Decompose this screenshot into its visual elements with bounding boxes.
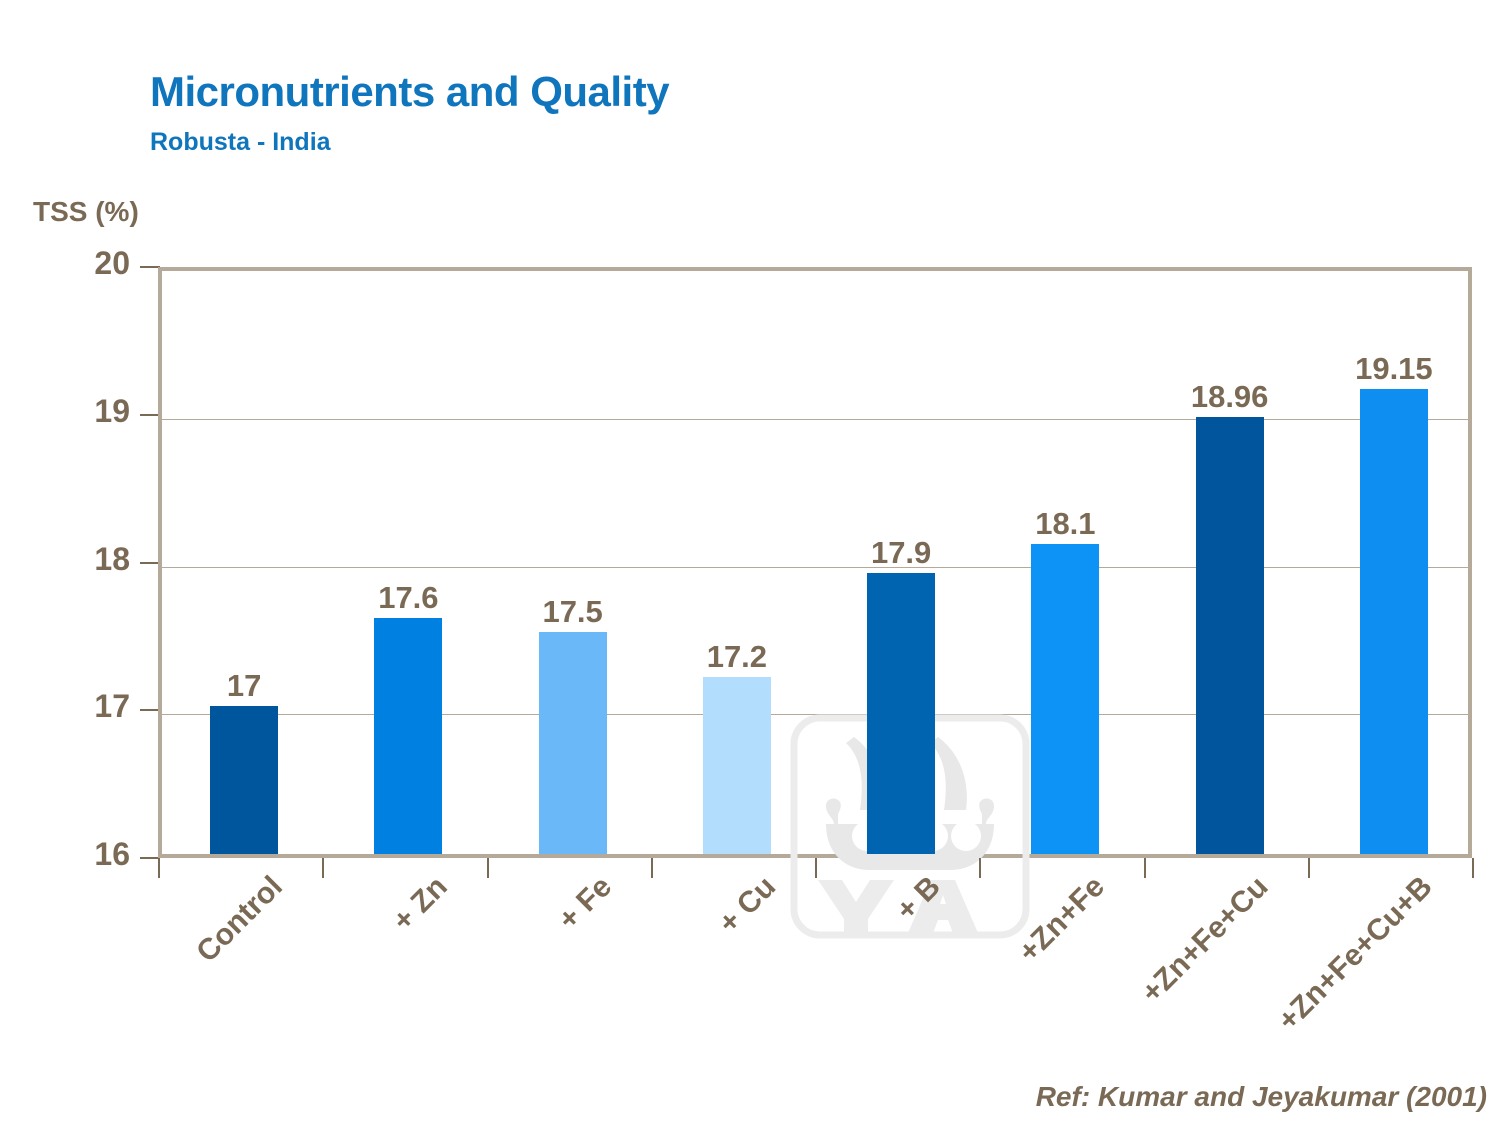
y-axis-title: TSS (%): [33, 196, 139, 228]
bar-slot: 17.2: [655, 271, 819, 854]
x-axis-category-label: + Cu: [712, 870, 783, 941]
x-axis-category-label: +Zn+Fe: [1012, 870, 1111, 969]
y-axis-tick: [140, 709, 160, 711]
bar-value-label: 18.1: [1035, 506, 1095, 542]
x-axis-tick: [815, 858, 817, 878]
y-axis-tick: [140, 562, 160, 564]
bar-slot: 17.6: [326, 271, 490, 854]
y-axis-tick: [140, 857, 160, 859]
bar-slot: 17.9: [819, 271, 983, 854]
bar[interactable]: [539, 632, 607, 854]
bar[interactable]: [1360, 389, 1428, 854]
x-axis-category-label: +Zn+Fe+Cu+B: [1272, 870, 1440, 1038]
bar-slot: 18.96: [1148, 271, 1312, 854]
chart-slide: Micronutrients and Quality Robusta - Ind…: [0, 0, 1501, 1126]
x-axis-category-label: + Fe: [552, 870, 619, 937]
x-axis-category-label: + B: [890, 870, 948, 928]
bar-slot: 19.15: [1312, 271, 1476, 854]
y-axis-tick-label: 18: [94, 541, 130, 578]
y-axis-tick-label: 16: [94, 836, 130, 873]
bar[interactable]: [1031, 544, 1099, 854]
plot-area: YARA 1717.617.517.217.918.118.9619.15: [158, 267, 1472, 858]
x-axis-tick: [1472, 858, 1474, 878]
y-axis-tick-label: 20: [94, 245, 130, 282]
bar-slot: 17.5: [491, 271, 655, 854]
x-axis-tick: [487, 858, 489, 878]
x-axis-tick: [158, 858, 160, 878]
bar-value-label: 18.96: [1191, 379, 1269, 415]
bar-value-label: 17.9: [871, 535, 931, 571]
x-axis-tick: [322, 858, 324, 878]
page-subtitle: Robusta - India: [150, 128, 331, 157]
bar[interactable]: [1196, 417, 1264, 854]
x-axis-category-label: +Zn+Fe+Cu: [1136, 870, 1276, 1010]
bar-value-label: 17.2: [707, 639, 767, 675]
x-axis-tick: [651, 858, 653, 878]
x-axis-category-label: + Zn: [386, 870, 454, 938]
x-axis-tick: [1144, 858, 1146, 878]
reference-note: Ref: Kumar and Jeyakumar (2001): [1036, 1081, 1487, 1113]
y-axis-tick-label: 17: [94, 688, 130, 725]
bar[interactable]: [210, 706, 278, 854]
bar-slot: 17: [162, 271, 326, 854]
page-title: Micronutrients and Quality: [150, 68, 669, 116]
y-axis-tick: [140, 414, 160, 416]
bar[interactable]: [374, 618, 442, 854]
x-axis-tick: [1308, 858, 1310, 878]
bar-value-label: 17.6: [378, 580, 438, 616]
bar-value-label: 19.15: [1355, 351, 1433, 387]
bar-slot: 18.1: [983, 271, 1147, 854]
bar[interactable]: [867, 573, 935, 854]
y-axis-tick-label: 19: [94, 393, 130, 430]
bar-value-label: 17: [227, 668, 261, 704]
bar-value-label: 17.5: [542, 594, 602, 630]
x-axis-tick: [979, 858, 981, 878]
y-axis-tick: [140, 266, 160, 268]
bar[interactable]: [703, 677, 771, 854]
x-axis-category-label: Control: [191, 870, 290, 969]
